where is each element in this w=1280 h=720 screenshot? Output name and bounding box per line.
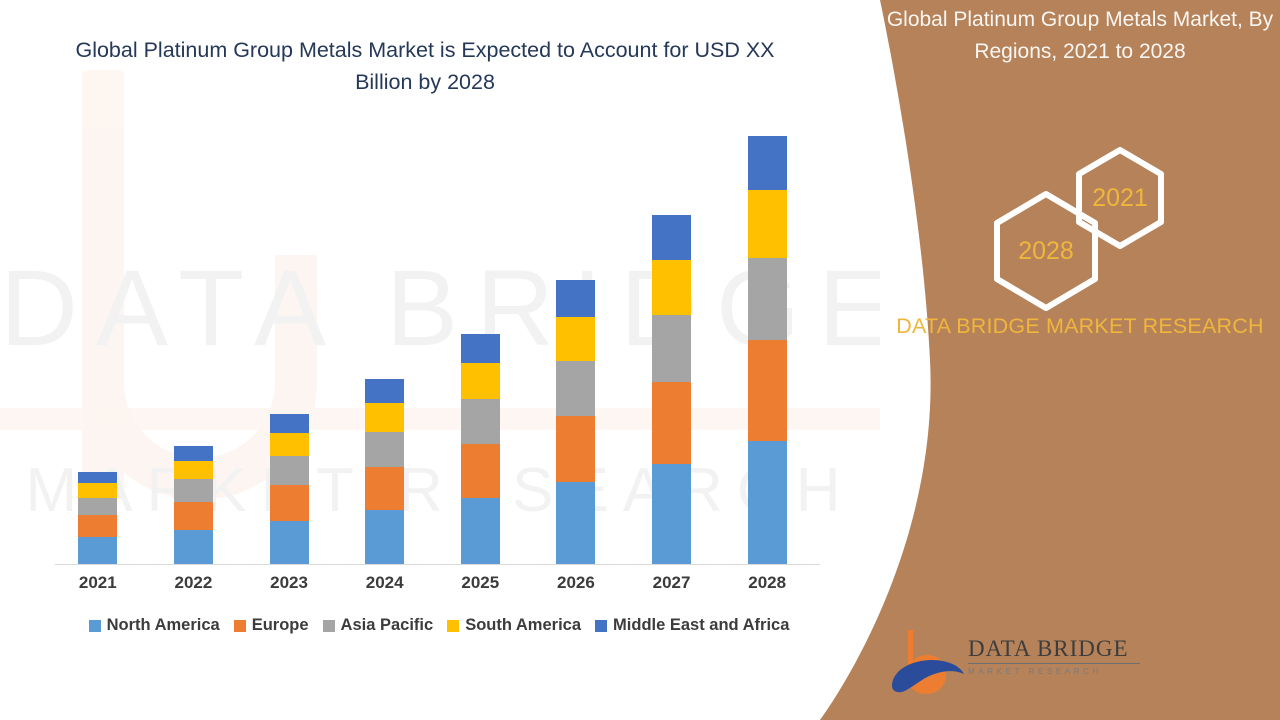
data-bridge-logo-rule	[968, 663, 1140, 664]
bar-segment-2026-north-america[interactable]	[556, 482, 595, 564]
legend-swatch-icon	[323, 620, 335, 632]
bar-segment-2026-asia-pacific[interactable]	[556, 361, 595, 416]
legend-swatch-icon	[595, 620, 607, 632]
legend-swatch-icon	[447, 620, 459, 632]
bar-segment-2024-middle-east-and-africa[interactable]	[365, 379, 404, 403]
brand-panel-title: Global Platinum Group Metals Market, By …	[880, 4, 1280, 68]
bar-segment-2028-middle-east-and-africa[interactable]	[748, 136, 787, 191]
bar-2026[interactable]	[556, 280, 595, 564]
x-axis-tick-labels: 20212022202320242025202620272028	[55, 573, 820, 599]
bar-segment-2024-europe[interactable]	[365, 467, 404, 510]
bar-2022[interactable]	[174, 446, 213, 564]
bar-2024[interactable]	[365, 379, 404, 564]
x-axis-line	[55, 564, 820, 565]
bar-segment-2027-asia-pacific[interactable]	[652, 315, 691, 382]
hexagon-2028: 2028	[990, 189, 1102, 313]
data-bridge-logo-name: DATA BRIDGE	[968, 636, 1143, 662]
bar-segment-2027-north-america[interactable]	[652, 464, 691, 564]
bar-segment-2021-middle-east-and-africa[interactable]	[78, 472, 117, 483]
bar-segment-2025-asia-pacific[interactable]	[461, 399, 500, 444]
bar-segment-2023-north-america[interactable]	[270, 521, 309, 564]
bar-segment-2023-europe[interactable]	[270, 485, 309, 520]
legend-item-north-america[interactable]: North America	[89, 616, 220, 635]
legend-label: Asia Pacific	[341, 616, 434, 635]
bar-segment-2021-europe[interactable]	[78, 515, 117, 537]
legend-label: North America	[107, 616, 220, 635]
bar-segment-2028-north-america[interactable]	[748, 441, 787, 564]
bar-segment-2027-south-america[interactable]	[652, 260, 691, 315]
bar-2023[interactable]	[270, 414, 309, 564]
bar-segment-2022-europe[interactable]	[174, 502, 213, 530]
x-tick-2027: 2027	[637, 573, 707, 593]
bar-segment-2023-south-america[interactable]	[270, 433, 309, 457]
bar-segment-2026-middle-east-and-africa[interactable]	[556, 280, 595, 316]
x-tick-2026: 2026	[541, 573, 611, 593]
bar-segment-2022-south-america[interactable]	[174, 461, 213, 480]
x-tick-2025: 2025	[445, 573, 515, 593]
legend-label: Middle East and Africa	[613, 616, 789, 635]
bar-2021[interactable]	[78, 472, 117, 564]
legend-item-south-america[interactable]: South America	[447, 616, 581, 635]
x-tick-2028: 2028	[732, 573, 802, 593]
bar-segment-2026-europe[interactable]	[556, 416, 595, 482]
brand-panel: Global Platinum Group Metals Market, By …	[820, 0, 1280, 720]
data-bridge-logo-mark	[890, 626, 966, 698]
x-tick-2021: 2021	[63, 573, 133, 593]
legend-label: Europe	[252, 616, 309, 635]
bar-segment-2021-south-america[interactable]	[78, 483, 117, 497]
bar-segment-2025-north-america[interactable]	[461, 498, 500, 564]
x-tick-2024: 2024	[350, 573, 420, 593]
bar-segment-2022-asia-pacific[interactable]	[174, 479, 213, 502]
plot-area	[55, 150, 820, 565]
bar-segment-2028-europe[interactable]	[748, 340, 787, 440]
bar-segment-2028-south-america[interactable]	[748, 190, 787, 257]
chart-panel: DATA BRIDGE MARKET RESEARCH Global Plati…	[0, 0, 880, 720]
hexagon-group: 2021 2028	[880, 140, 1280, 300]
bar-segment-2021-asia-pacific[interactable]	[78, 498, 117, 516]
legend-swatch-icon	[89, 620, 101, 632]
bar-segment-2026-south-america[interactable]	[556, 317, 595, 362]
data-bridge-logo-tagline: MARKET RESEARCH	[968, 667, 1143, 676]
bar-segment-2024-north-america[interactable]	[365, 510, 404, 564]
bar-segment-2024-south-america[interactable]	[365, 403, 404, 432]
bar-2028[interactable]	[748, 136, 787, 564]
bar-segment-2023-middle-east-and-africa[interactable]	[270, 414, 309, 433]
legend-swatch-icon	[234, 620, 246, 632]
x-tick-2022: 2022	[158, 573, 228, 593]
legend-item-europe[interactable]: Europe	[234, 616, 309, 635]
bar-segment-2025-middle-east-and-africa[interactable]	[461, 334, 500, 363]
x-tick-2023: 2023	[254, 573, 324, 593]
bar-segment-2022-north-america[interactable]	[174, 530, 213, 564]
bar-segment-2028-asia-pacific[interactable]	[748, 258, 787, 341]
legend-label: South America	[465, 616, 581, 635]
hexagon-2028-label: 2028	[990, 189, 1102, 313]
chart-legend: North AmericaEuropeAsia PacificSouth Ame…	[55, 616, 823, 635]
brand-panel-subtitle: DATA BRIDGE MARKET RESEARCH	[880, 310, 1280, 342]
data-bridge-logo: DATA BRIDGE MARKET RESEARCH	[890, 624, 1140, 702]
legend-item-asia-pacific[interactable]: Asia Pacific	[323, 616, 434, 635]
bar-segment-2021-north-america[interactable]	[78, 537, 117, 564]
bar-2025[interactable]	[461, 334, 500, 564]
bar-segment-2025-europe[interactable]	[461, 444, 500, 498]
bar-2027[interactable]	[652, 215, 691, 564]
bar-segment-2024-asia-pacific[interactable]	[365, 432, 404, 467]
bar-segment-2027-middle-east-and-africa[interactable]	[652, 215, 691, 260]
bar-segment-2022-middle-east-and-africa[interactable]	[174, 446, 213, 460]
bar-segment-2025-south-america[interactable]	[461, 363, 500, 399]
chart-title: Global Platinum Group Metals Market is E…	[60, 34, 790, 98]
bar-segment-2023-asia-pacific[interactable]	[270, 456, 309, 485]
legend-item-middle-east-and-africa[interactable]: Middle East and Africa	[595, 616, 789, 635]
bar-segment-2027-europe[interactable]	[652, 382, 691, 464]
